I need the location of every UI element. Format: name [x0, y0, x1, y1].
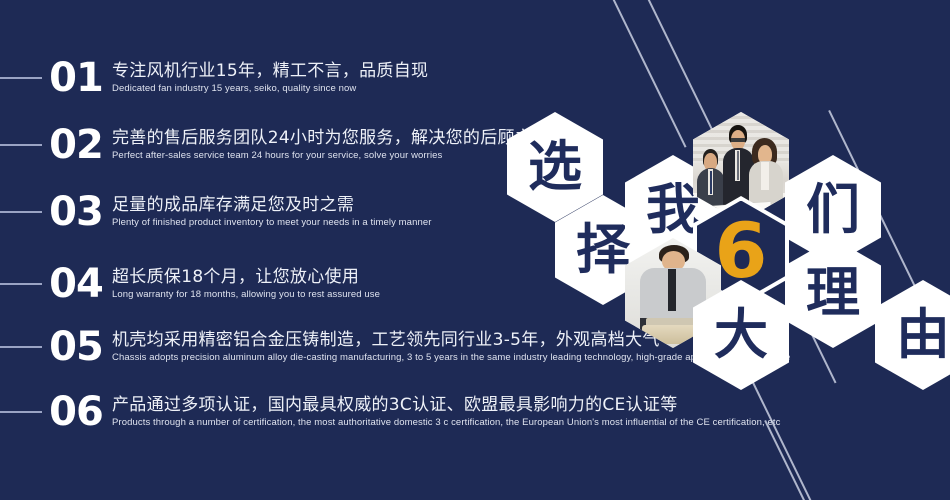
hex-char: 大	[714, 308, 768, 362]
headline-hex-cluster: 选 择 我	[0, 0, 950, 500]
hex-char: 理	[806, 266, 860, 320]
hex-char: 们	[806, 183, 860, 237]
hex-char-six: 6	[715, 213, 768, 289]
hex-char: 我	[646, 183, 700, 237]
hex-char: 择	[576, 223, 630, 277]
hex-cell-li: 理	[785, 238, 881, 348]
hex-cell-you: 由	[875, 280, 950, 390]
banner-canvas: 01 专注风机行业15年，精工不言，品质自现 Dedicated fan ind…	[0, 0, 950, 500]
hex-char: 由	[896, 308, 950, 362]
hex-char: 选	[528, 140, 582, 194]
